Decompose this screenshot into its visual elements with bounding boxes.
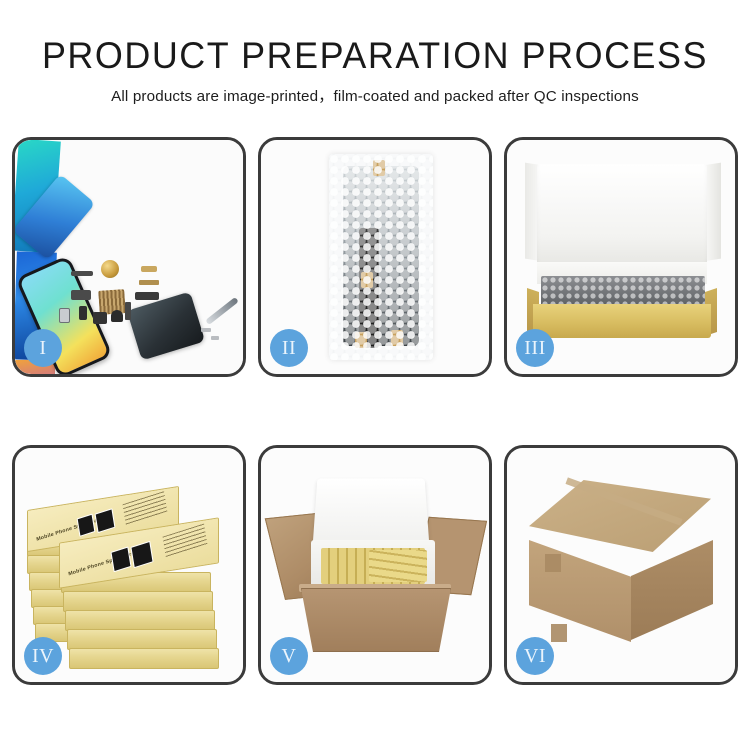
process-panel-6: VI <box>504 445 738 685</box>
panel-badge-3: III <box>516 329 554 367</box>
panel-badge-1: I <box>24 329 62 367</box>
process-panel-5: V <box>258 445 492 685</box>
bubble-padding-icon <box>541 276 705 306</box>
panel-badge-5: V <box>270 637 308 675</box>
vibration-motor-icon <box>101 260 119 278</box>
page-subtitle: All products are image-printed，film-coat… <box>0 87 750 107</box>
carton-body-icon <box>301 588 451 652</box>
box-stack-icon: Mobile Phone Spare Parts Mobile Phone Sp… <box>25 476 241 666</box>
panel-badge-4: IV <box>24 637 62 675</box>
panel-badge-6: VI <box>516 637 554 675</box>
kraft-box-tray-icon <box>533 304 711 338</box>
bubble-wrap-bag-icon <box>329 154 433 360</box>
panel-badge-2: II <box>270 329 308 367</box>
process-panel-grid: I II III <box>12 137 738 685</box>
foam-cooler-lid-icon <box>312 479 429 549</box>
carton-side-icon <box>631 540 713 640</box>
page-title: PRODUCT PREPARATION PROCESS <box>11 34 739 78</box>
carton-top-icon <box>529 480 711 552</box>
process-panel-3: III <box>504 137 738 377</box>
process-panel-2: II <box>258 137 492 377</box>
process-panel-1: I <box>12 137 246 377</box>
page-header: PRODUCT PREPARATION PROCESS All products… <box>0 0 750 107</box>
process-panel-4: Mobile Phone Spare Parts Mobile Phone Sp… <box>12 445 246 685</box>
foam-sheet-icon <box>537 164 707 268</box>
